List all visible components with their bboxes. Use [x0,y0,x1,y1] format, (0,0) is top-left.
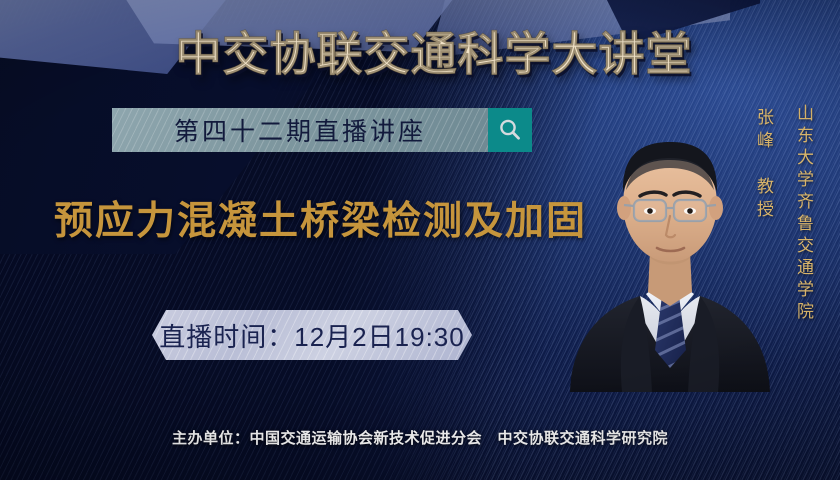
search-icon[interactable] [488,108,532,152]
live-time-text: 直播时间：12月2日19:30 [159,317,464,354]
speaker-organization: 山东大学齐鲁交通学院 [791,104,816,324]
lecture-topic: 预应力混凝土桥梁检测及加固 [54,190,587,246]
organizer-footer: 主办单位：中国交通运输协会新技术促进分会 中交协联交通科学研究院 [0,427,840,448]
subtitle-banner-body: 第四十二期直播讲座 [112,108,488,152]
page-title: 中交协联交通科学大讲堂 [0,18,840,84]
subtitle-banner: 第四十二期直播讲座 [112,108,532,152]
speaker-portrait [560,92,780,392]
subtitle-banner-label: 第四十二期直播讲座 [174,112,426,148]
webinar-poster: 中交协联交通科学大讲堂 第四十二期直播讲座 预应力混凝土桥梁检测及加固 直播时间… [0,0,840,480]
speaker-name-title: 张峰 教授 [751,108,776,223]
live-time-badge: 直播时间：12月2日19:30 [152,310,472,360]
